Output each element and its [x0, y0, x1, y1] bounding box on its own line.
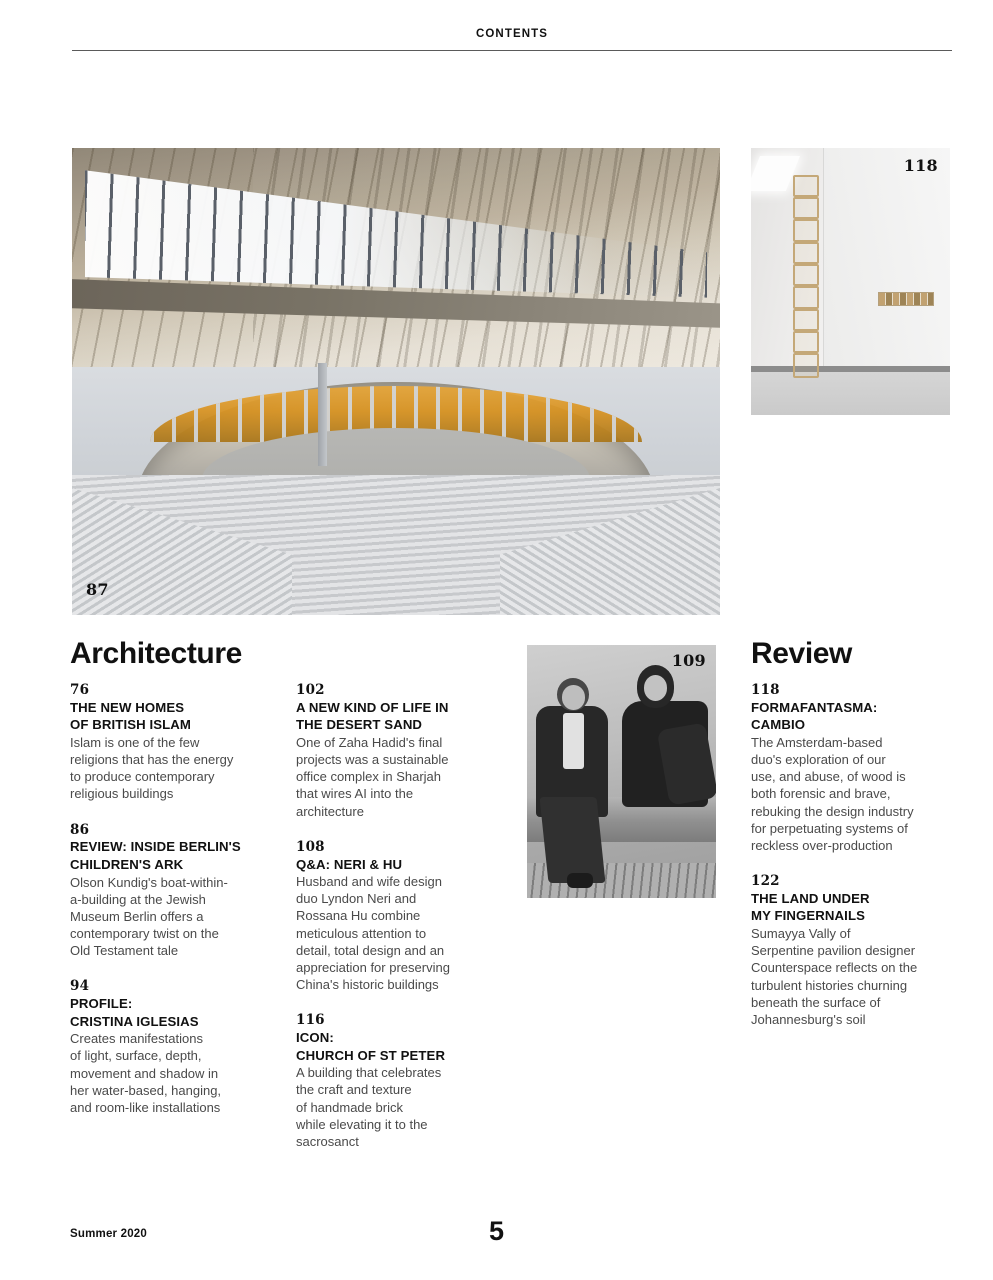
- entry-title: A NEW KIND OF LIFE IN THE DESERT SAND: [296, 699, 482, 734]
- entry-description: The Amsterdam-based duo's exploration of…: [751, 734, 951, 854]
- contents-entry[interactable]: 94 PROFILE: CRISTINA IGLESIAS Creates ma…: [70, 978, 266, 1116]
- contents-entry[interactable]: 102 A NEW KIND OF LIFE IN THE DESERT SAN…: [296, 682, 482, 820]
- hero-photo-page-number: 87: [86, 580, 109, 599]
- header-divider: [72, 50, 952, 51]
- hero-architecture-photo: 87: [72, 148, 720, 615]
- entry-description: Olson Kundig's boat-within- a-building a…: [70, 874, 266, 960]
- section-heading-review: Review: [751, 637, 852, 671]
- entry-description: Islam is one of the few religions that h…: [70, 734, 266, 803]
- portrait-man-shirt: [563, 713, 584, 769]
- gallery-installation-photo: 118: [751, 148, 950, 415]
- entry-page-number: 118: [751, 682, 951, 699]
- header-title: CONTENTS: [72, 28, 952, 40]
- page-header: CONTENTS: [72, 28, 952, 51]
- entry-title: THE NEW HOMES OF BRITISH ISLAM: [70, 699, 266, 734]
- entry-page-number: 86: [70, 822, 266, 839]
- gallery-baseboard: [751, 366, 950, 372]
- gallery-floor: [751, 370, 950, 415]
- contents-entry[interactable]: 76 THE NEW HOMES OF BRITISH ISLAM Islam …: [70, 682, 266, 803]
- section-heading-architecture: Architecture: [70, 637, 242, 671]
- entry-page-number: 116: [296, 1012, 482, 1029]
- contents-entry[interactable]: 122 THE LAND UNDER MY FINGERNAILS Sumayy…: [751, 873, 951, 1028]
- contents-page: CONTENTS 87: [0, 0, 993, 1280]
- entry-description: Sumayya Vally of Serpentine pavilion des…: [751, 925, 951, 1028]
- contents-entry[interactable]: 108 Q&A: NERI & HU Husband and wife desi…: [296, 839, 482, 994]
- entry-description: A building that celebrates the craft and…: [296, 1064, 482, 1150]
- portrait-man-face: [562, 685, 585, 709]
- contents-column-one: 76 THE NEW HOMES OF BRITISH ISLAM Islam …: [70, 682, 266, 1135]
- entry-page-number: 76: [70, 682, 266, 699]
- entry-title: REVIEW: INSIDE BERLIN'S CHILDREN'S ARK: [70, 838, 266, 873]
- portrait-woman-face: [644, 675, 667, 700]
- entry-title: FORMAFANTASMA: CAMBIO: [751, 699, 951, 734]
- entry-title: ICON: CHURCH OF ST PETER: [296, 1029, 482, 1064]
- portrait-man-legs: [539, 797, 605, 883]
- entry-title: PROFILE: CRISTINA IGLESIAS: [70, 995, 266, 1030]
- entry-description: One of Zaha Hadid's final projects was a…: [296, 734, 482, 820]
- entry-title: THE LAND UNDER MY FINGERNAILS: [751, 890, 951, 925]
- gallery-wall-right: [823, 148, 950, 378]
- entry-page-number: 122: [751, 873, 951, 890]
- footer-page-number: 5: [0, 1216, 993, 1247]
- entry-description: Husband and wife design duo Lyndon Neri …: [296, 873, 482, 993]
- hero-column: [318, 363, 327, 466]
- contents-entry[interactable]: 116 ICON: CHURCH OF ST PETER A building …: [296, 1012, 482, 1150]
- contents-entry[interactable]: 118 FORMAFANTASMA: CAMBIO The Amsterdam-…: [751, 682, 951, 854]
- contents-column-two: 102 A NEW KIND OF LIFE IN THE DESERT SAN…: [296, 682, 482, 1169]
- neri-and-hu-portrait-photo: 109: [527, 645, 716, 898]
- wood-sample-artwork: [878, 292, 934, 305]
- entry-page-number: 102: [296, 682, 482, 699]
- portrait-man-shoe: [567, 873, 593, 888]
- stacked-stool-sculpture: [793, 175, 819, 378]
- contents-entry[interactable]: 86 REVIEW: INSIDE BERLIN'S CHILDREN'S AR…: [70, 822, 266, 960]
- gallery-wall-corner: [823, 148, 824, 378]
- portrait-photo-page-number: 109: [672, 651, 706, 670]
- gallery-photo-page-number: 118: [904, 156, 938, 175]
- entry-page-number: 108: [296, 839, 482, 856]
- entry-page-number: 94: [70, 978, 266, 995]
- entry-description: Creates manifestations of light, surface…: [70, 1030, 266, 1116]
- contents-column-three: 118 FORMAFANTASMA: CAMBIO The Amsterdam-…: [751, 682, 951, 1047]
- entry-title: Q&A: NERI & HU: [296, 856, 482, 874]
